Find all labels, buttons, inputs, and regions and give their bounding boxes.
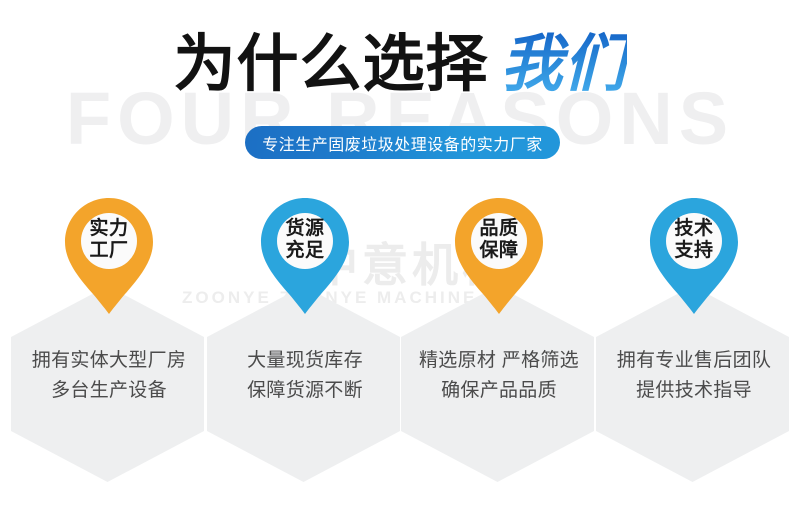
feature-description-line2: 确保产品品质 <box>401 376 597 406</box>
pin-marker: 技术 支持 <box>596 196 792 321</box>
pin-marker: 品质 保障 <box>401 196 597 321</box>
feature-description: 大量现货库存 保障货源不断 <box>207 346 403 406</box>
pin-label-line2: 保障 <box>461 240 537 262</box>
feature-description: 拥有专业售后团队 提供技术指导 <box>596 346 792 406</box>
subtitle-banner: 专注生产固废垃圾处理设备的实力厂家 <box>245 126 560 159</box>
headline-primary-text: 为什么选择 <box>173 30 488 99</box>
pin-label-line1: 技术 <box>674 218 713 239</box>
headline-accent-text: 我们 <box>501 30 627 99</box>
pin-label: 品质 保障 <box>461 218 537 262</box>
promo-banner-stage: FOUR REASONS 为什么选择我们 专注生产固废垃圾处理设备的实力厂家 中… <box>0 0 800 520</box>
feature-card[interactable]: 实力 工厂 拥有实体大型厂房 多台生产设备 <box>11 196 207 486</box>
pin-label-line1: 货源 <box>285 218 324 239</box>
feature-card[interactable]: 品质 保障 精选原材 严格筛选 确保产品品质 <box>401 196 597 486</box>
feature-card-list: 实力 工厂 拥有实体大型厂房 多台生产设备 货源 <box>0 196 800 496</box>
pin-label: 技术 支持 <box>656 218 732 262</box>
pin-label-line2: 充足 <box>267 240 343 262</box>
pin-label: 货源 充足 <box>267 218 343 262</box>
pin-marker: 货源 充足 <box>207 196 403 321</box>
feature-card[interactable]: 货源 充足 大量现货库存 保障货源不断 <box>207 196 403 486</box>
feature-description-line1: 拥有专业售后团队 <box>617 350 771 371</box>
feature-description-line1: 拥有实体大型厂房 <box>32 350 186 371</box>
feature-description: 精选原材 严格筛选 确保产品品质 <box>401 346 597 406</box>
feature-description-line1: 精选原材 严格筛选 <box>419 350 579 371</box>
subtitle-banner-text: 专注生产固废垃圾处理设备的实力厂家 <box>262 131 543 155</box>
page-title: 为什么选择我们 <box>0 28 800 102</box>
feature-description-line2: 提供技术指导 <box>596 376 792 406</box>
pin-label-line2: 支持 <box>656 240 732 262</box>
feature-description-line2: 多台生产设备 <box>11 376 207 406</box>
header-section: FOUR REASONS 为什么选择我们 专注生产固废垃圾处理设备的实力厂家 <box>0 0 800 180</box>
feature-card[interactable]: 技术 支持 拥有专业售后团队 提供技术指导 <box>596 196 792 486</box>
pin-label-line2: 工厂 <box>71 240 147 262</box>
pin-label-line1: 品质 <box>479 218 518 239</box>
feature-description-line1: 大量现货库存 <box>247 350 363 371</box>
pin-label: 实力 工厂 <box>71 218 147 262</box>
pin-label-line1: 实力 <box>89 218 128 239</box>
pin-marker: 实力 工厂 <box>11 196 207 321</box>
feature-description: 拥有实体大型厂房 多台生产设备 <box>11 346 207 406</box>
feature-description-line2: 保障货源不断 <box>207 376 403 406</box>
